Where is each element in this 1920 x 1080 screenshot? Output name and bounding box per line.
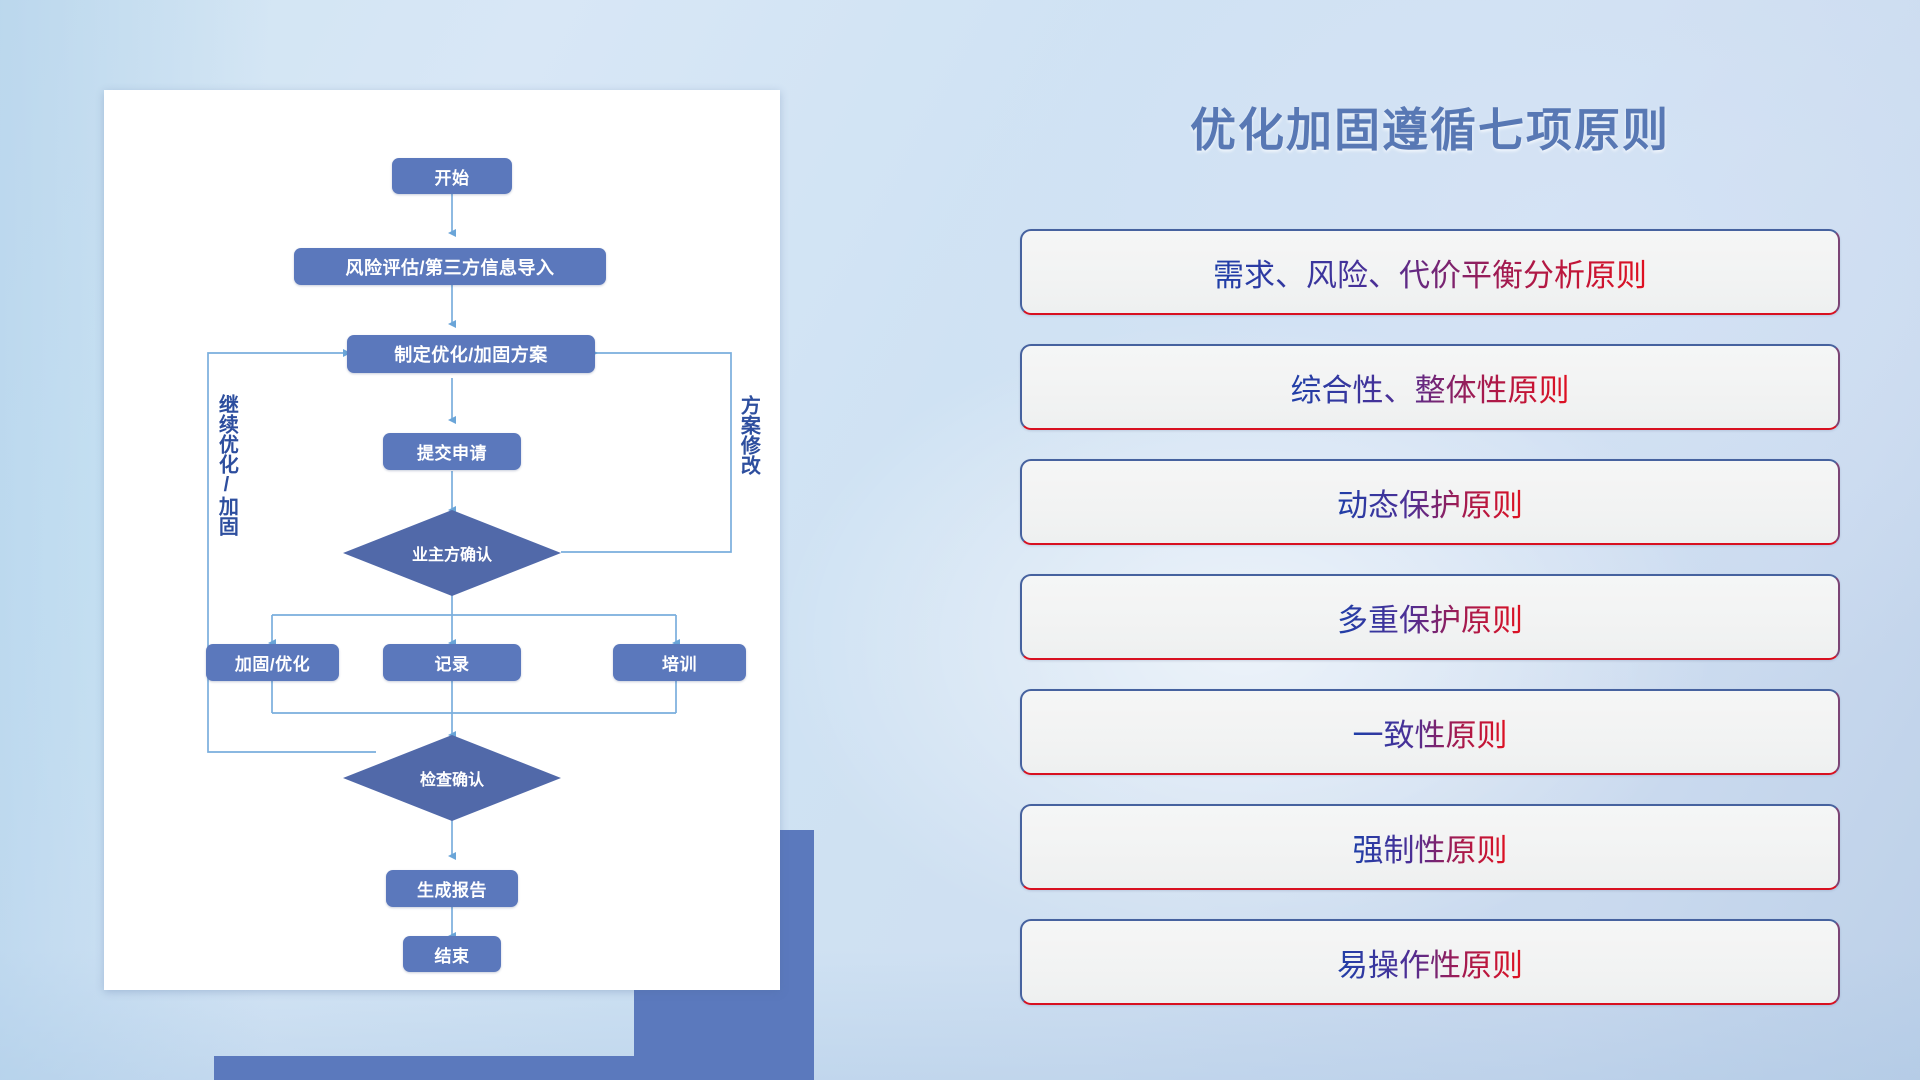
principles-title: 优化加固遵循七项原则 bbox=[1020, 94, 1840, 160]
principles-list: 需求、风险、代价平衡分析原则 综合性、整体性原则 动态保护原则 多重保护原则 一… bbox=[1020, 229, 1840, 1034]
principle-item-2[interactable]: 综合性、整体性原则 bbox=[1020, 344, 1840, 430]
principle-item-1[interactable]: 需求、风险、代价平衡分析原则 bbox=[1020, 229, 1840, 315]
principle-label: 动态保护原则 bbox=[1337, 480, 1523, 525]
flow-node-label: 制定优化/加固方案 bbox=[394, 341, 548, 367]
flow-node-record[interactable]: 记录 bbox=[383, 644, 521, 681]
flow-node-label: 风险评估/第三方信息导入 bbox=[346, 254, 555, 280]
flow-node-label: 记录 bbox=[435, 650, 470, 675]
principle-label: 强制性原则 bbox=[1353, 825, 1508, 870]
principle-item-5[interactable]: 一致性原则 bbox=[1020, 689, 1840, 775]
flowchart-card: 开始 风险评估/第三方信息导入 制定优化/加固方案 提交申请 业主方确认 加固/… bbox=[104, 90, 780, 990]
flow-node-label: 检查确认 bbox=[343, 735, 561, 821]
principle-label: 需求、风险、代价平衡分析原则 bbox=[1213, 250, 1647, 295]
flow-node-training[interactable]: 培训 bbox=[613, 644, 746, 681]
flow-node-owner-confirm[interactable]: 业主方确认 bbox=[343, 510, 561, 596]
edge-label-continue-optimize: 继续优化/加固 bbox=[216, 394, 236, 536]
principle-label: 易操作性原则 bbox=[1337, 940, 1523, 985]
flow-node-plan[interactable]: 制定优化/加固方案 bbox=[347, 335, 595, 373]
flow-node-risk-assessment[interactable]: 风险评估/第三方信息导入 bbox=[294, 248, 606, 285]
flow-node-end[interactable]: 结束 bbox=[403, 936, 501, 972]
flow-node-start[interactable]: 开始 bbox=[392, 158, 512, 194]
flow-node-submit-application[interactable]: 提交申请 bbox=[383, 433, 521, 470]
principles-panel: 优化加固遵循七项原则 需求、风险、代价平衡分析原则 综合性、整体性原则 动态保护… bbox=[1020, 94, 1840, 1004]
flow-node-check-confirm[interactable]: 检查确认 bbox=[343, 735, 561, 821]
principle-item-6[interactable]: 强制性原则 bbox=[1020, 804, 1840, 890]
principle-item-7[interactable]: 易操作性原则 bbox=[1020, 919, 1840, 1005]
flowchart-panel: 开始 风险评估/第三方信息导入 制定优化/加固方案 提交申请 业主方确认 加固/… bbox=[104, 90, 794, 990]
principle-label: 一致性原则 bbox=[1353, 710, 1508, 755]
principle-label: 多重保护原则 bbox=[1337, 595, 1523, 640]
flow-node-label: 提交申请 bbox=[417, 439, 487, 464]
flow-node-reinforce[interactable]: 加固/优化 bbox=[206, 644, 339, 681]
flow-node-generate-report[interactable]: 生成报告 bbox=[386, 870, 518, 907]
principle-item-3[interactable]: 动态保护原则 bbox=[1020, 459, 1840, 545]
flow-node-label: 加固/优化 bbox=[235, 650, 310, 675]
flow-node-label: 培训 bbox=[662, 650, 697, 675]
principle-item-4[interactable]: 多重保护原则 bbox=[1020, 574, 1840, 660]
edge-label-plan-revision: 方案修改 bbox=[738, 395, 758, 475]
flow-node-label: 业主方确认 bbox=[343, 510, 561, 596]
flow-node-label: 开始 bbox=[435, 164, 470, 189]
flow-node-label: 结束 bbox=[435, 942, 470, 967]
flow-node-label: 生成报告 bbox=[417, 876, 487, 901]
principle-label: 综合性、整体性原则 bbox=[1291, 365, 1570, 410]
